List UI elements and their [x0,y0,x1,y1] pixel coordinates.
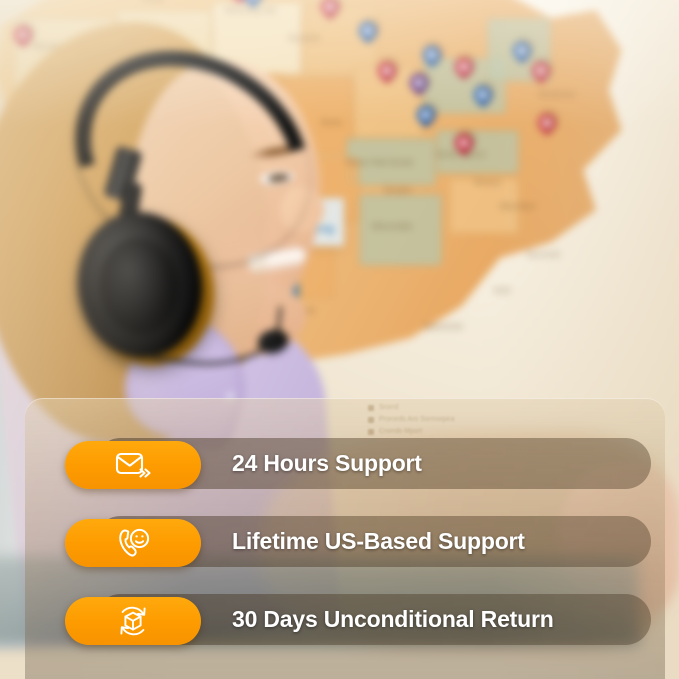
feature-icon-badge-return-policy[interactable] [65,597,201,645]
feature-label-us-based-support: Lifetime US-Based Support [232,516,525,567]
package-return-arrows-icon [115,603,151,639]
feature-row-us-based-support: Lifetime US-Based Support [25,516,665,567]
feature-overlay-panel: 24 Hours Support Lif [25,398,665,679]
product-banner: Warrda Rorr Avsila Wheming Sdt Rurelink … [0,0,679,679]
envelope-fast-forward-icon [114,449,152,481]
feature-row-return-policy: 30 Days Unconditional Return [25,594,665,645]
feature-icon-badge-support-24h[interactable] [65,441,201,489]
phone-smiley-icon [115,526,151,560]
feature-icon-badge-us-based-support[interactable] [65,519,201,567]
feature-label-support-24h: 24 Hours Support [232,438,422,489]
feature-list: 24 Hours Support Lif [25,438,665,645]
feature-row-support-24h: 24 Hours Support [25,438,665,489]
feature-label-return-policy: 30 Days Unconditional Return [232,594,554,645]
